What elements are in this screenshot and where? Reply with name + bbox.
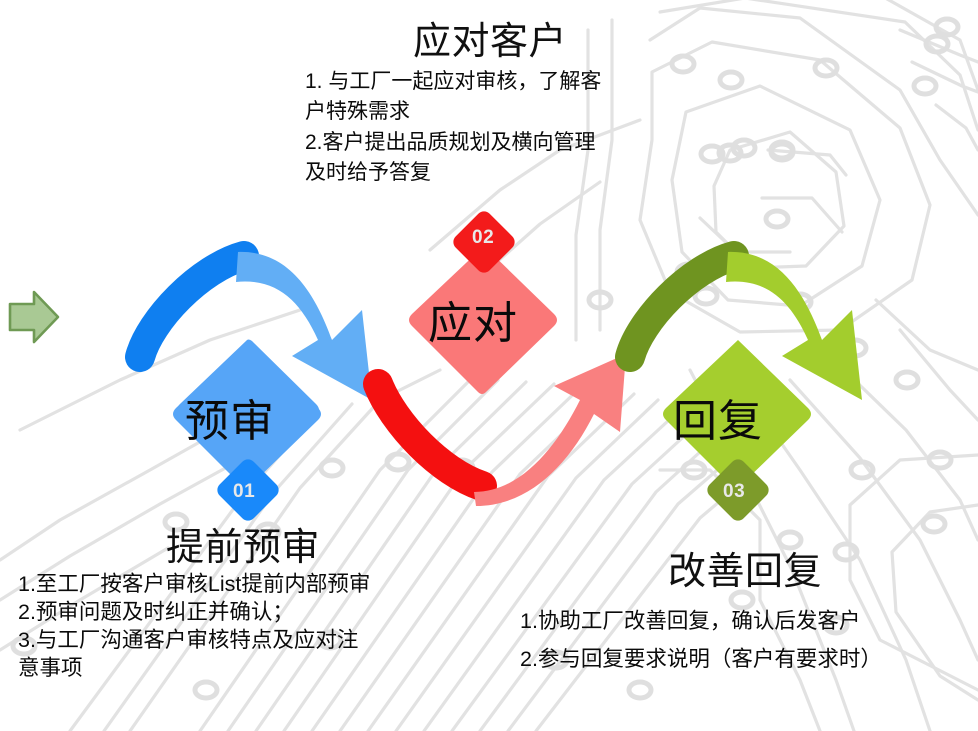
start-arrow-icon [10,292,58,342]
arrow-2-descender [378,384,482,486]
arrow-1-riser [140,256,244,357]
step-1-body-line: 意事项 [18,655,468,683]
step-2-badge-number: 02 [472,227,494,249]
step-2-text-block: 应对客户 1. 与工厂一起应对审核，了解客 户特殊需求 2.客户提出品质规划及横… [305,22,675,189]
step-3-body: 1.协助工厂改善回复，确认后发客户 2.参与回复要求说明（客户有要求时） [520,603,970,678]
step-2-body-line: 1. 与工厂一起应对审核，了解客 [305,67,675,97]
step-1-diamond-label: 预审 [185,385,275,449]
step-2-body-line: 2.客户提出品质规划及横向管理 [305,128,675,158]
arrow-1-descender [236,252,372,400]
step-1-badge-number: 01 [233,481,255,503]
slide-canvas: 预审 应对 回复 01 02 03 应对客户 1. 与工厂一起应对审核，了解客 … [0,0,978,731]
step-1-body-line: 1.至工厂按客户审核List提前内部预审 [18,571,468,599]
step-2-body: 1. 与工厂一起应对审核，了解客 户特殊需求 2.客户提出品质规划及横向管理 及… [305,67,675,189]
step-2-heading: 应对客户 [305,22,675,63]
step-3-diamond-label: 回复 [673,385,763,449]
step-2-body-line: 户特殊需求 [305,97,675,127]
step-1-text-block: 提前预审 1.至工厂按客户审核List提前内部预审 2.预审问题及时纠正并确认；… [18,528,468,683]
step-2-diamond-label: 应对 [428,287,518,351]
step-2-body-line: 及时给予答复 [305,158,675,188]
step-3-heading: 改善回复 [520,552,970,593]
arrow-3-descender [726,252,862,400]
step-3-body-line: 2.参与回复要求说明（客户有要求时） [520,641,970,679]
step-3-body-line: 1.协助工厂改善回复，确认后发客户 [520,603,970,641]
arrow-2-riser [474,354,626,506]
arrow-3-riser [630,256,734,357]
step-1-body-line: 2.预审问题及时纠正并确认； [18,599,468,627]
step-3-badge-number: 03 [723,481,745,503]
step-1-body: 1.至工厂按客户审核List提前内部预审 2.预审问题及时纠正并确认； 3.与工… [18,571,468,683]
step-1-heading: 提前预审 [18,528,468,569]
step-3-text-block: 改善回复 1.协助工厂改善回复，确认后发客户 2.参与回复要求说明（客户有要求时… [520,552,970,678]
step-1-body-line: 3.与工厂沟通客户审核特点及应对注 [18,627,468,655]
